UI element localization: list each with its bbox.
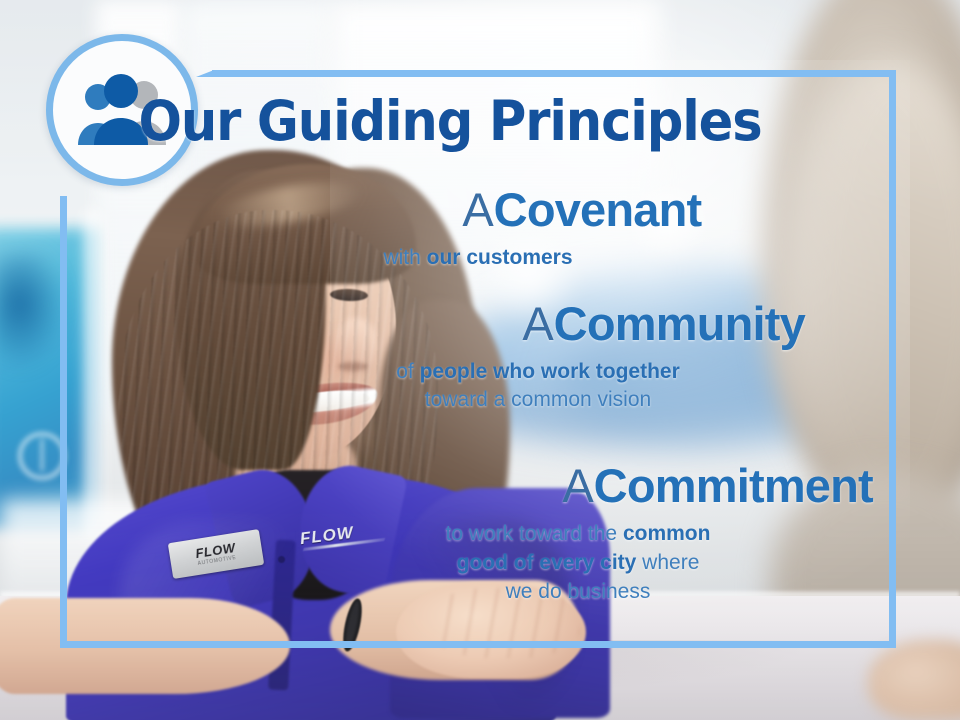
principle-covenant-sub-bold: our customers — [427, 246, 573, 269]
principle-community-keyword: Community — [554, 300, 805, 349]
principle-community-sub-line-1: of people who work together — [228, 358, 848, 386]
principle-commitment-heading: A Commitment — [268, 462, 888, 511]
principle-commitment-sub-bold-2: good of every city — [457, 551, 637, 574]
principle-commitment-sub-line-2: good of every city where — [268, 549, 888, 578]
principle-community-sub-bold: people who work together — [420, 360, 680, 383]
principle-community-subtext: of people who work together toward a com… — [228, 358, 848, 413]
principle-commitment-sub-plain-1: to work toward the — [446, 522, 623, 545]
principle-community-heading: A Community — [228, 300, 848, 349]
principle-community-sub-plain: of — [396, 360, 419, 383]
poster-canvas: FLOW AUTOMOTIVE FLOW — [0, 0, 960, 720]
principle-community-article: A — [522, 297, 553, 350]
principle-covenant-sub-plain: with — [383, 246, 426, 269]
principle-commitment-subtext: to work toward the common good of every … — [268, 520, 888, 607]
principle-commitment-sub-line-3: we do business — [268, 578, 888, 607]
principle-commitment: A Commitment to work toward the common g… — [268, 462, 888, 607]
principle-covenant-heading: A Covenant — [168, 186, 788, 235]
principle-commitment-sub-bold-1: common — [623, 522, 711, 545]
principle-commitment-article: A — [562, 459, 593, 512]
principle-commitment-sub-line-1: to work toward the common — [268, 520, 888, 549]
principle-community-sub-line-2: toward a common vision — [228, 386, 848, 414]
principle-covenant-keyword: Covenant — [494, 186, 702, 235]
principle-community: A Community of people who work together … — [228, 300, 848, 413]
principle-commitment-sub-plain-2: where — [636, 551, 699, 574]
principle-covenant: A Covenant with our customers — [168, 186, 788, 272]
principle-covenant-article: A — [462, 183, 493, 236]
principle-commitment-keyword: Commitment — [594, 462, 873, 511]
principle-covenant-subtext: with our customers — [168, 244, 788, 272]
page-title: Our Guiding Principles — [32, 94, 869, 149]
